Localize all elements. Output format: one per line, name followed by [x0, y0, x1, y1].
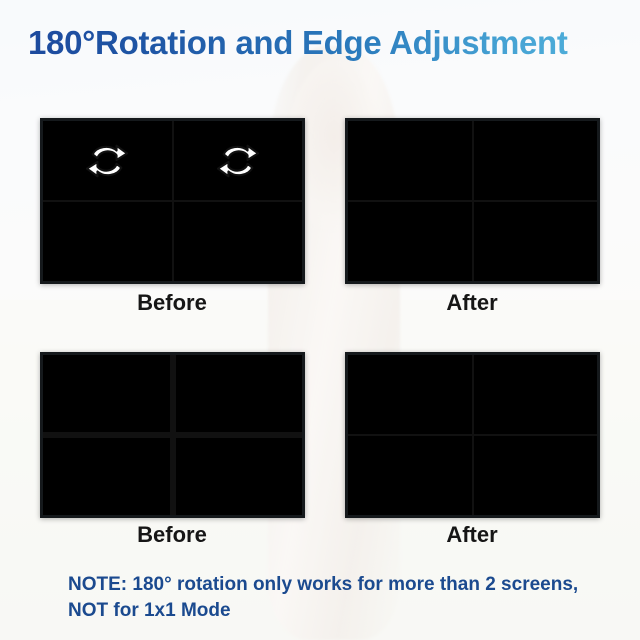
screen-top-right: [474, 121, 598, 200]
video-wall-edge-after: [345, 352, 600, 518]
screen-content: [174, 202, 303, 281]
screen-top-left: [348, 355, 472, 434]
screen-content: [43, 438, 170, 515]
video-wall-frame: [345, 352, 600, 518]
screen-bottom-left: [348, 202, 472, 281]
video-wall-frame: [40, 118, 305, 284]
screen-top-left: [43, 121, 172, 200]
caption-edge-after: After: [342, 522, 602, 548]
screen-content: [43, 355, 170, 432]
product-feature-graphic: 180°Rotation and Edge Adjustment: [0, 0, 640, 640]
caption-rotation-after: After: [342, 290, 602, 316]
screen-content: [176, 355, 303, 432]
screen-grid: [348, 121, 597, 281]
screen-grid: [43, 355, 302, 515]
video-wall-edge-before: [40, 352, 305, 518]
screen-bottom-right: [474, 436, 598, 515]
screen-content: [348, 202, 472, 281]
screen-content: [174, 121, 303, 200]
screen-bottom-right: [176, 438, 303, 515]
screen-content: [474, 202, 598, 281]
video-wall-frame: [345, 118, 600, 284]
screen-top-left: [348, 121, 472, 200]
video-wall-rotation-after: [345, 118, 600, 284]
note-text: NOTE: 180° rotation only works for more …: [68, 572, 588, 624]
screen-content: [474, 121, 598, 200]
screen-top-left: [43, 355, 170, 432]
screen-top-right: [174, 121, 303, 200]
screen-top-right: [474, 355, 598, 434]
caption-rotation-before: Before: [42, 290, 302, 316]
screen-top-right: [176, 355, 303, 432]
screen-content: [348, 436, 472, 515]
video-wall-rotation-before: [40, 118, 305, 284]
screen-content: [43, 202, 172, 281]
page-title: 180°Rotation and Edge Adjustment: [28, 24, 628, 62]
screen-content: [474, 355, 598, 434]
screen-content: [348, 121, 472, 200]
video-wall-frame: [40, 352, 305, 518]
screen-grid: [43, 121, 302, 281]
caption-edge-before: Before: [42, 522, 302, 548]
screen-content: [176, 438, 303, 515]
screen-content: [474, 436, 598, 515]
screen-bottom-left: [43, 438, 170, 515]
screen-grid: [348, 355, 597, 515]
screen-content: [348, 355, 472, 434]
screen-bottom-right: [474, 202, 598, 281]
screen-bottom-left: [348, 436, 472, 515]
screen-content: [43, 121, 172, 200]
screen-bottom-right: [174, 202, 303, 281]
screen-bottom-left: [43, 202, 172, 281]
